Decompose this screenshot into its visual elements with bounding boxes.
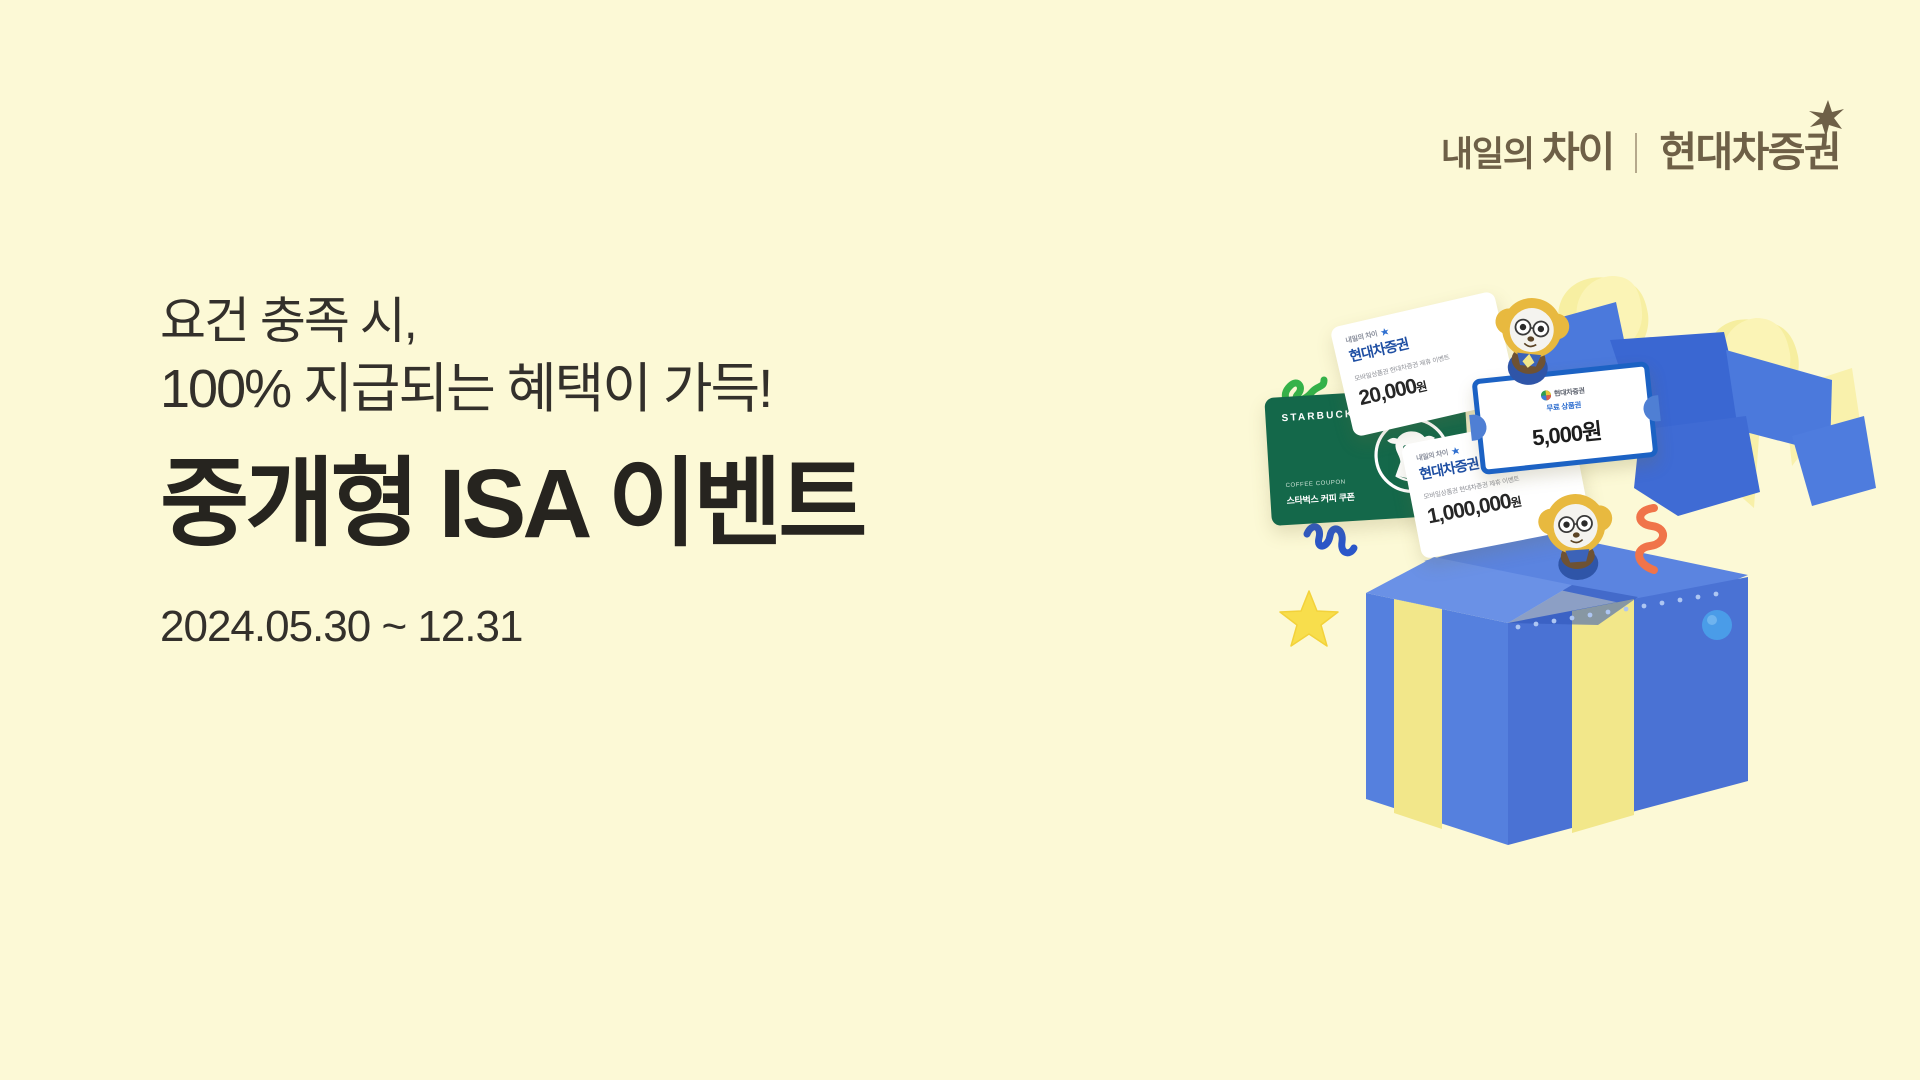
brand-company-name: 현대차증권 [1659,132,1840,173]
voucher-star-icon-20000 [1380,327,1390,337]
kicker-line-1: 요건 충족 시, [160,288,863,354]
four-point-star-mark-icon [1806,98,1846,138]
page-title: 중개형 ISA 이벤트 [160,451,863,558]
brand-name-wrap: 현대차증권 [1659,132,1840,173]
ticket-logo-icon [1540,389,1552,401]
brand-tagline: 내일의차이 [1441,132,1613,173]
promo-banner: 내일의차이 현대차증권 요건 충족 시, 100% 지급되는 혜택이 가득! 중… [0,0,1920,1080]
brand-lockup: 내일의차이 현대차증권 [1441,132,1840,173]
star-yellow-icon [1278,588,1340,650]
bear-mascot-top-icon [1480,283,1582,390]
voucher-currency-1000000: 원 [1510,494,1523,510]
starbucks-sub-en: COFFEE COUPON [1285,479,1345,489]
squiggle-orange-icon [1626,502,1668,582]
brand-divider [1635,133,1637,173]
voucher-star-icon-1000000 [1451,446,1460,455]
starbucks-sub-ko: 스타벅스 커피 쿠폰 [1286,490,1355,507]
gift-illustration: STARBUCKS COFFEE COUPON 스타벅스 커피 쿠폰 [1230,230,1890,850]
voucher-currency-20000: 원 [1415,379,1428,395]
brand-tagline-word: 차이 [1542,129,1613,175]
copy-block: 요건 충족 시, 100% 지급되는 혜택이 가득! 중개형 ISA 이벤트 2… [160,288,863,652]
ticket-amount: 5,000원 [1530,413,1602,452]
dot-blue-icon [1700,608,1734,642]
ticket-sub: 무료 상품권 [1546,399,1582,414]
squiggle-blue-icon [1302,520,1360,578]
kicker-line-2: 100% 지급되는 혜택이 가득! [160,354,863,425]
bear-mascot-bottom-icon [1527,479,1626,583]
event-period: 2024.05.30 ~ 12.31 [160,602,863,652]
brand-tagline-prefix: 내일의 [1441,135,1534,174]
